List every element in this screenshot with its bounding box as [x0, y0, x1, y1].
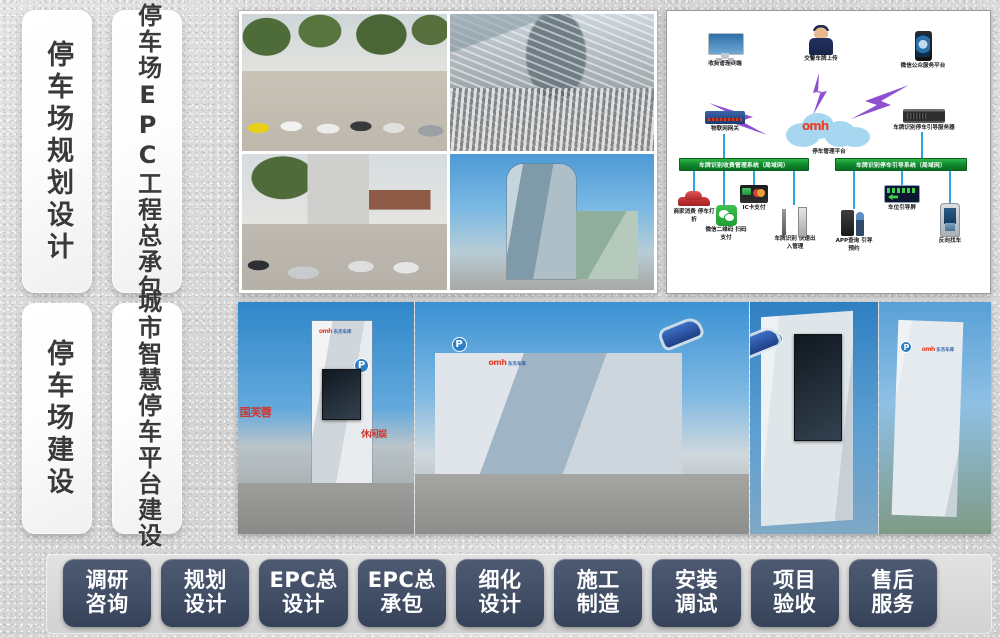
- connector-line: [693, 171, 695, 191]
- brand-logo: omh东杰车库: [319, 328, 352, 335]
- app-phone-icon: [841, 209, 867, 237]
- connector-line: [853, 171, 855, 209]
- police-officer-icon: [808, 25, 834, 55]
- smart-parking-system-topology: omh 停车管理平台 收费管理终端 交警车牌上传 微信公众服务平台 物联网网关 …: [666, 10, 991, 294]
- step-construction[interactable]: 施工 制造: [554, 559, 642, 627]
- node-iot-gateway: 物联网网关: [685, 111, 765, 134]
- node-label: 收费管理终端: [687, 61, 763, 69]
- desktop-monitor-icon: [708, 33, 742, 59]
- side-card-label: 停车场EPC工程总承包: [134, 3, 159, 301]
- network-router-icon: [705, 111, 745, 124]
- connector-line: [949, 171, 951, 203]
- subsystem-bar-parking-guidance: 车牌识别停车引导系统（局域网）: [835, 158, 967, 171]
- side-card-construction[interactable]: 停车场建设: [22, 303, 92, 534]
- step-epc-design[interactable]: EPC总 设计: [259, 559, 347, 627]
- connector-line: [793, 171, 795, 205]
- cloud-label: 停车管理平台: [779, 149, 879, 157]
- item-app-query-guidance: APP查询 引导 预约: [833, 209, 875, 253]
- item-label: 反向找车: [929, 238, 971, 246]
- node-traffic-police-upload: 交警车牌上传: [783, 25, 859, 64]
- item-reverse-car-finding: 反向找车: [929, 203, 971, 246]
- storefront-signage-2: 休闲娱: [361, 427, 387, 440]
- process-step-row: 调研 咨询 规划 设计 EPC总 设计 EPC总 承包 细化 设计 施工 制造 …: [0, 550, 1000, 636]
- parking-badge: P: [900, 341, 912, 353]
- connector-line: [901, 171, 903, 185]
- side-card-label: 停车场建设: [43, 339, 71, 499]
- billboard-panel: [794, 334, 843, 441]
- cloud-icon: omh: [784, 111, 874, 149]
- ic-card-icon: [740, 185, 768, 203]
- omh-logo: omh: [802, 119, 828, 133]
- smartphone-icon: [915, 31, 932, 61]
- connector-line: [723, 134, 725, 158]
- item-label: IC卡支付: [735, 205, 773, 213]
- brand-logo: omh东杰车库: [922, 346, 955, 353]
- photo-street-parking-lot: [242, 14, 447, 151]
- node-label: 物联网网关: [685, 126, 765, 134]
- barrier-gate-icon: [778, 205, 812, 235]
- node-label: 车牌识别停车引导服务器: [869, 125, 979, 133]
- render-multistorey-garage: omh东杰车库 P: [415, 302, 750, 534]
- render-aerial-tower-garage: omh东杰车库 P: [879, 302, 991, 534]
- node-label: 交警车牌上传: [783, 56, 859, 64]
- side-card-planning-design[interactable]: 停车场规划设计: [22, 10, 92, 293]
- led-guide-screen-icon: [884, 185, 920, 203]
- billboard-panel: [322, 369, 361, 420]
- side-card-epc-contracting[interactable]: 停车场EPC工程总承包: [112, 10, 182, 293]
- rack-server-icon: [903, 109, 945, 123]
- node-charge-management-terminal: 收费管理终端: [687, 33, 763, 69]
- step-detail-design[interactable]: 细化 设计: [456, 559, 544, 627]
- node-wechat-public-service: 微信公众服务平台: [879, 31, 967, 71]
- kiosk-terminal-icon: [940, 203, 960, 237]
- parking-badge: P: [452, 337, 467, 352]
- item-plate-fast-entry-exit: 车牌识别 快速出入管理: [773, 205, 817, 251]
- subsystem-bar-charge-management: 车牌识别收费管理系统（局域网）: [679, 158, 809, 171]
- wechat-icon: [716, 205, 737, 226]
- item-label: 车位引导屏: [881, 205, 923, 213]
- storefront-signage: 国芙蓉: [240, 404, 272, 420]
- garage-architectural-renderings: omh东杰车库 P 国芙蓉 休闲娱 omh东杰车库 P P omh东杰车库 P: [238, 302, 991, 534]
- side-card-smart-platform[interactable]: 城市智慧停车平台建设: [112, 303, 182, 534]
- parking-cloud-platform: omh 停车管理平台: [779, 111, 879, 157]
- render-garage-billboard: P: [750, 302, 878, 534]
- brand-logo: omh东杰车库: [488, 358, 526, 367]
- item-label: APP查询 引导 预约: [833, 238, 875, 253]
- photo-glass-office-tower: [450, 154, 655, 291]
- render-tower-garage-street: omh东杰车库 P 国芙蓉 休闲娱: [238, 302, 414, 534]
- item-label: 车牌识别 快速出入管理: [773, 236, 817, 251]
- step-install-debug[interactable]: 安装 调试: [652, 559, 740, 627]
- step-research[interactable]: 调研 咨询: [63, 559, 151, 627]
- connector-line: [753, 171, 755, 185]
- item-ic-card-payment: IC卡支付: [735, 185, 773, 213]
- connector-line: [921, 132, 923, 158]
- step-epc-contract[interactable]: EPC总 承包: [358, 559, 446, 627]
- side-card-label: 城市智慧停车平台建设: [134, 289, 159, 549]
- project-photo-collage: [238, 10, 658, 294]
- photo-lot-brick-building: [242, 154, 447, 291]
- step-planning[interactable]: 规划 设计: [161, 559, 249, 627]
- step-after-sales[interactable]: 售后 服务: [849, 559, 937, 627]
- connector-line: [723, 171, 725, 205]
- photo-aerial-parking-view: [450, 14, 655, 151]
- side-card-label: 停车场规划设计: [43, 40, 71, 264]
- node-plate-recognition-server: 车牌识别停车引导服务器: [869, 109, 979, 133]
- step-acceptance[interactable]: 项目 验收: [751, 559, 839, 627]
- item-label: 微信二维码 扫码支付: [703, 227, 749, 242]
- node-label: 微信公众服务平台: [879, 63, 967, 71]
- lifted-blue-car: [661, 319, 703, 349]
- item-space-guidance-screen: 车位引导屏: [881, 185, 923, 213]
